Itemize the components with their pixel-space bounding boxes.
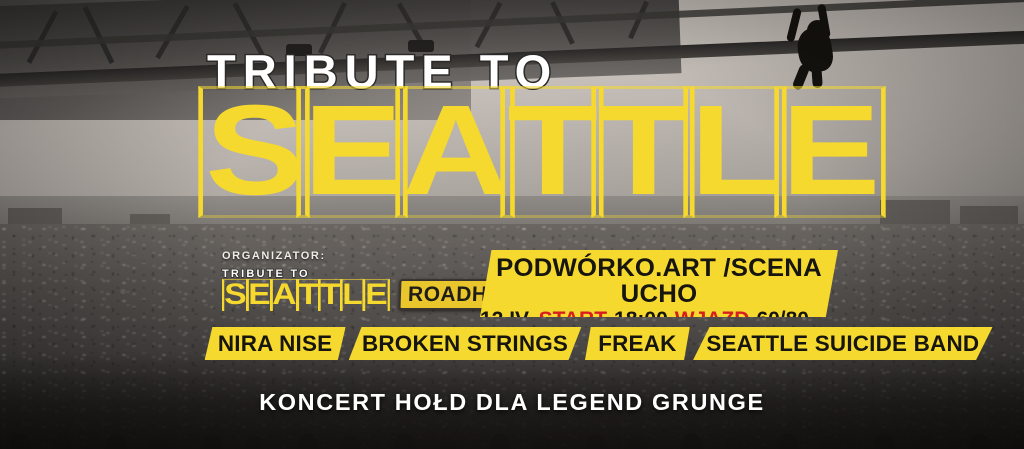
mini-letter-frame [363,279,390,311]
title-letter-glyph: E [304,79,403,222]
lineup-band: SEATTLE SUICIDE BAND [693,327,992,360]
mini-title-letter: S [222,279,249,310]
organizer-logo-tribute-seattle: TRIBUTE TO S E A [222,268,387,310]
page-title-main: S E A T T L E [196,86,870,214]
title-letter: E [772,86,888,214]
mini-letter-frame [222,279,249,311]
title-letter-glyph: A [402,79,509,222]
title-letter-glyph: E [781,79,880,222]
mini-title-letter: E [363,279,390,310]
mini-letter-frame [270,279,299,311]
event-venue: PODWÓRKO.ART /SCENA UCHO [475,255,844,308]
mini-letter-frame [246,279,273,311]
concert-poster: TRIBUTE TO S E A T T L E [0,0,1024,449]
lineup-row: NIRA NISE BROKEN STRINGS FREAK SEATTLE S… [206,327,990,360]
mini-title-letter: L [340,279,365,310]
lineup-band: FREAK [585,327,690,360]
lineup-band: BROKEN STRINGS [349,327,582,360]
lineup-band: NIRA NISE [205,327,346,360]
poster-tagline: KONCERT HOŁD DLA LEGEND GRUNGE [0,389,1024,416]
mini-title-letter: E [246,279,273,310]
mini-letter-frame [340,279,365,311]
title-letter-glyph: S [205,79,304,222]
mini-title-letter: T [296,279,321,310]
mini-letter-frame [296,279,321,311]
event-info-banner: PODWÓRKO.ART /SCENA UCHO 12 IV 2025 STAR… [480,250,838,317]
title-letter-glyph: L [690,79,781,222]
mini-title-letter: A [270,279,299,310]
mini-logo-main-text: S E A T T [222,279,387,310]
title-letter-glyph: T [599,79,690,222]
title-letter-glyph: T [507,79,598,222]
